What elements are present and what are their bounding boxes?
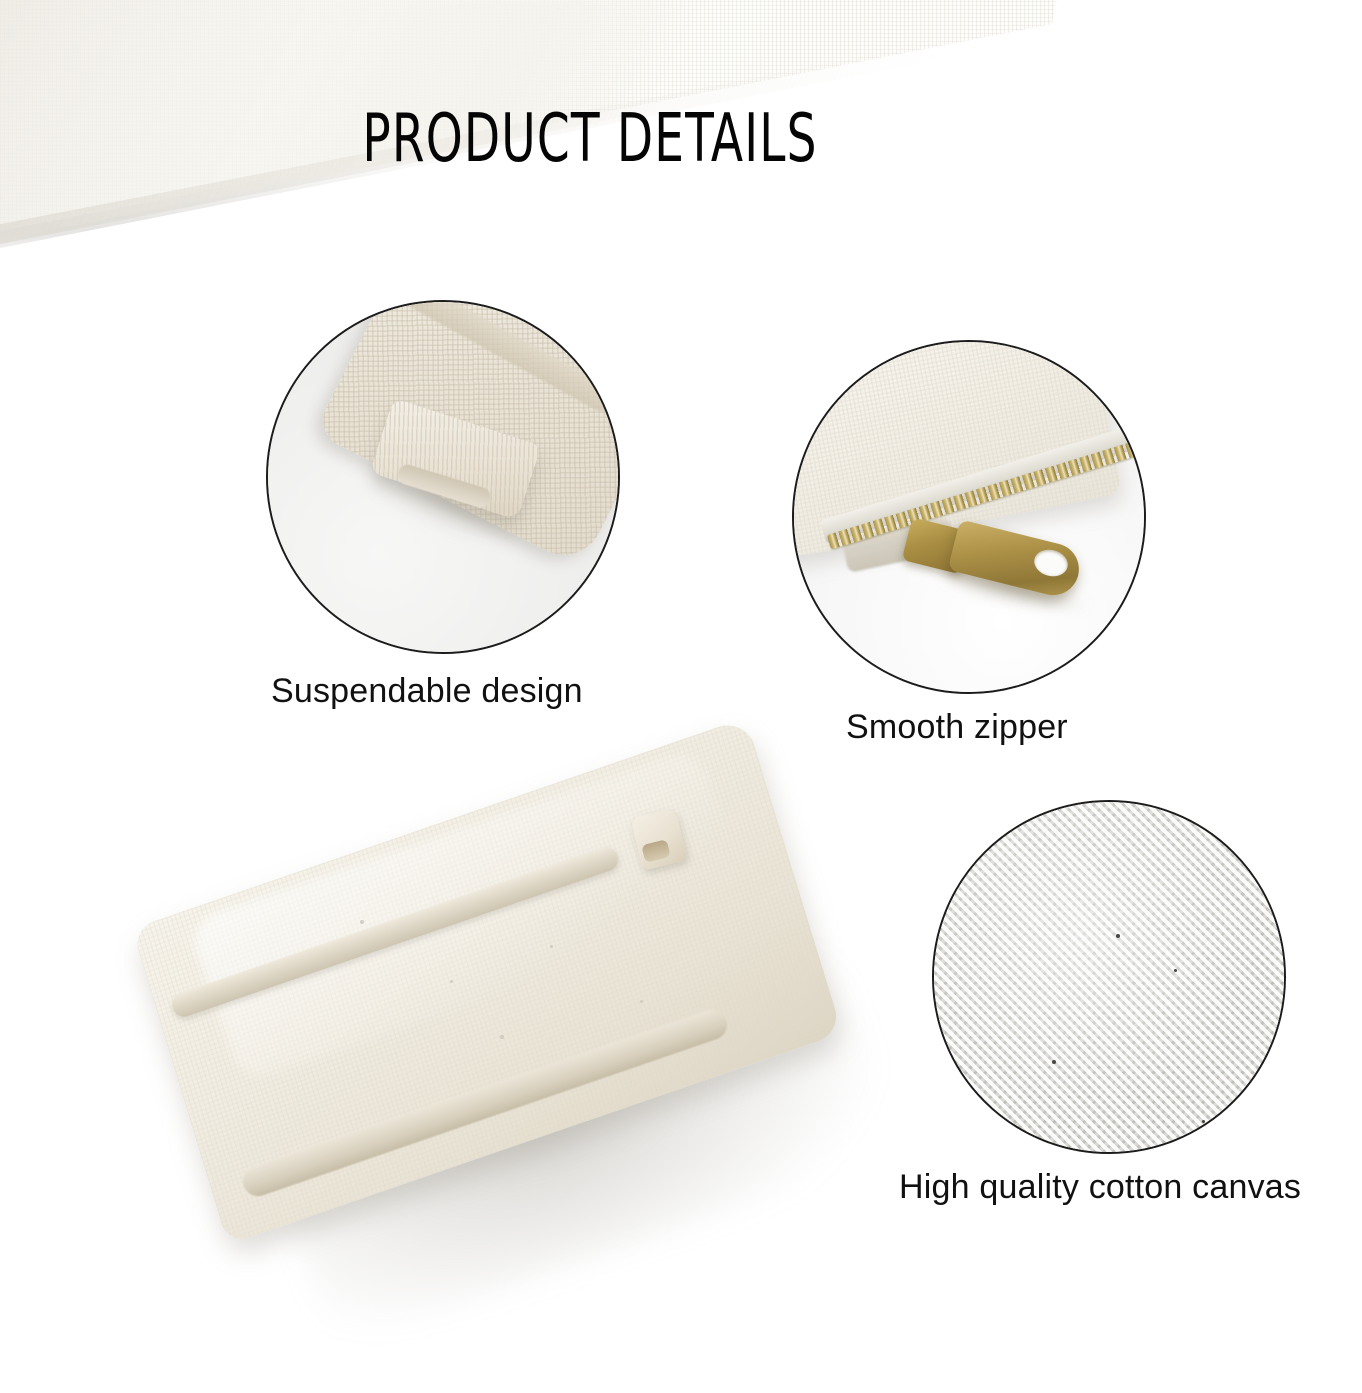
caption-suspendable-design: Suspendable design xyxy=(271,672,583,711)
caption-high-quality-cotton-canvas: High quality cotton canvas xyxy=(899,1168,1301,1207)
product-details-page: PRODUCT DETAILS Suspendable design Smoot… xyxy=(0,0,1362,1393)
fabric-speck xyxy=(450,980,453,983)
fabric-fleck xyxy=(1202,1120,1205,1123)
fabric-speck xyxy=(640,1000,643,1003)
fabric-fleck xyxy=(1052,1060,1056,1064)
fabric-speck xyxy=(360,920,364,924)
fabric-fleck xyxy=(1116,934,1120,938)
detail-circle-zipper xyxy=(792,340,1146,694)
texture-sheen xyxy=(934,802,1284,1152)
detail-circle-cotton-canvas xyxy=(932,800,1286,1154)
fabric-fleck xyxy=(1174,969,1177,972)
detail-image-cotton-canvas xyxy=(934,802,1284,1152)
fabric-speck xyxy=(500,1035,504,1039)
detail-circle-suspendable xyxy=(266,300,620,654)
detail-image-suspendable xyxy=(268,302,618,652)
product-photo-pouch xyxy=(120,770,900,1310)
detail-image-zipper xyxy=(794,342,1144,692)
caption-smooth-zipper: Smooth zipper xyxy=(846,708,1068,747)
page-title: PRODUCT DETAILS xyxy=(130,105,1050,172)
fabric-speck xyxy=(550,945,553,948)
